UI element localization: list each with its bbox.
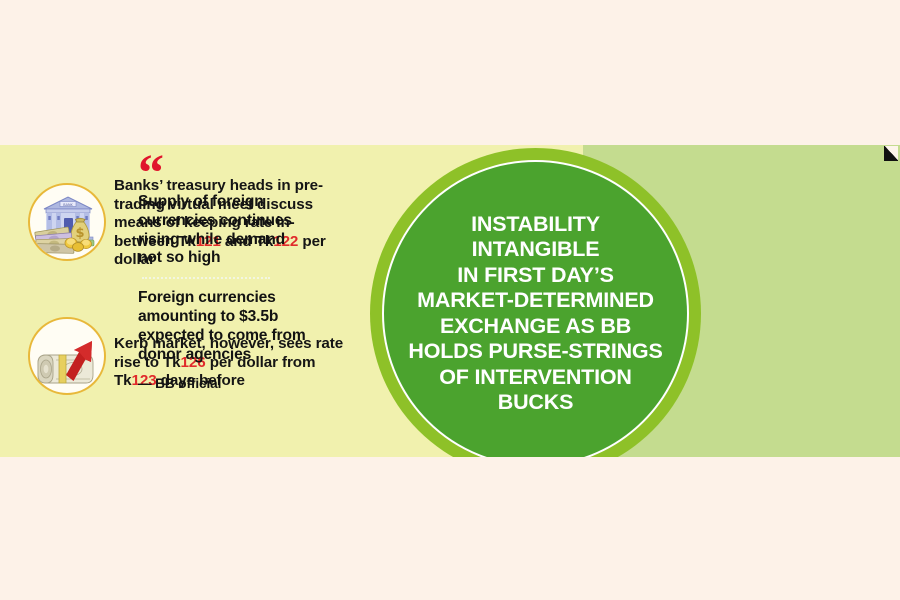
- quote-divider: [142, 277, 270, 280]
- corner-fold-artifact: [884, 146, 898, 161]
- headline-circle: INSTABILITY INTANGIBLE IN FIRST DAY’S MA…: [382, 160, 689, 457]
- quote-panel: “ Supply of foreign currencies continues…: [138, 159, 306, 391]
- bullet-icon-wrap-1: [22, 305, 114, 397]
- headline-line-4: HOLDS PURSE-STRINGS: [407, 339, 665, 365]
- headline-line-0: INSTABILITY INTANGIBLE: [407, 212, 665, 263]
- dollar-bundle-with-up-arrow-icon: [28, 317, 106, 395]
- infographic-banner: BANK: [0, 145, 900, 457]
- headline-line-1: IN FIRST DAY’S: [407, 263, 665, 289]
- headline-line-6: BUCKS: [407, 390, 665, 416]
- headline-line-5: OF INTERVENTION: [407, 365, 665, 391]
- quote-paragraph-1: Foreign currencies amounting to $3.5b ex…: [138, 289, 306, 364]
- bullet-icon-wrap-0: BANK: [22, 171, 114, 263]
- headline-line-2: MARKET-DETERMINED: [407, 288, 665, 314]
- svg-text:$: $: [75, 226, 84, 241]
- bank-with-banknotes-and-money-bag-icon: BANK: [28, 183, 106, 261]
- quote-paragraph-0: Supply of foreign currencies continues r…: [138, 193, 306, 268]
- quotation-mark-icon: “: [138, 159, 306, 193]
- svg-text:BANK: BANK: [63, 203, 73, 207]
- page-title: INSTABILITY INTANGIBLE IN FIRST DAY’S MA…: [407, 212, 665, 416]
- quote-attribution: — BB official: [138, 376, 306, 391]
- headline-line-3: EXCHANGE AS BB: [407, 314, 665, 340]
